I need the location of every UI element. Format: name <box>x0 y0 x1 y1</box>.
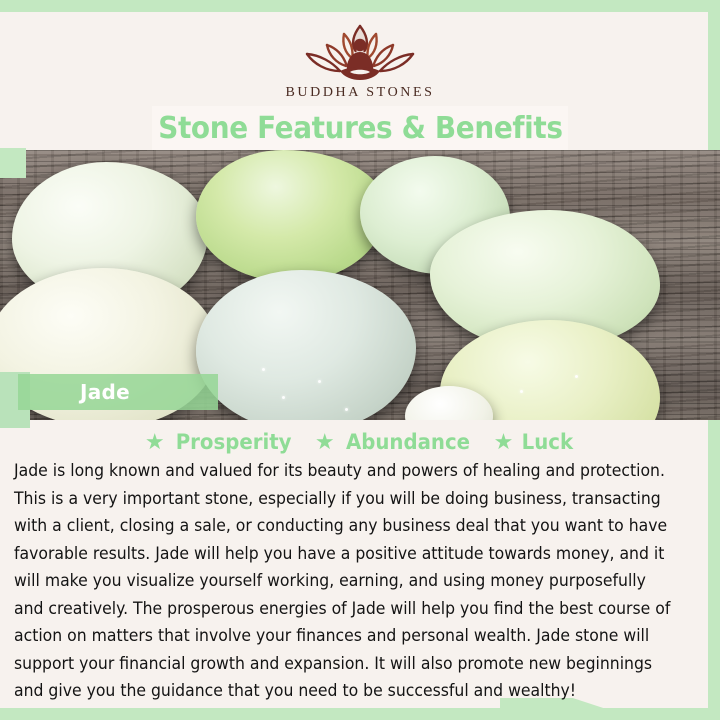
star-icon: ★ <box>494 431 514 453</box>
frame-notch <box>0 148 26 178</box>
stone-info-poster: BUDDHA STONES Stone Features & Benefits … <box>0 0 720 720</box>
sparkle-dot <box>282 396 285 399</box>
brand-name: BUDDHA STONES <box>285 85 434 101</box>
benefit-label: Abundance <box>346 430 470 454</box>
sparkle-dot <box>318 380 321 383</box>
brand-header: BUDDHA STONES <box>0 12 720 110</box>
benefits-row: ★ Prosperity ★ Abundance ★ Luck <box>0 430 720 454</box>
stone-name-banner: Jade <box>18 374 218 410</box>
jade-stone <box>196 270 416 420</box>
benefit-item-luck: ★ Luck <box>494 430 575 454</box>
star-icon: ★ <box>145 431 165 453</box>
sparkle-dot <box>520 390 523 393</box>
sparkle-dot <box>262 368 265 371</box>
stone-name-label: Jade <box>80 380 130 404</box>
page-title: Stone Features & Benefits <box>158 111 562 146</box>
benefit-item-prosperity: ★ Prosperity <box>145 430 295 454</box>
benefit-item-abundance: ★ Abundance <box>315 430 474 454</box>
star-icon: ★ <box>315 431 335 453</box>
brand-logo: BUDDHA STONES <box>285 21 434 101</box>
benefit-label: Prosperity <box>175 430 291 454</box>
sparkle-dot <box>575 375 578 378</box>
benefit-label: Luck <box>522 430 573 454</box>
sparkle-dot <box>345 408 348 411</box>
lotus-meditation-icon <box>296 21 424 83</box>
title-banner: Stone Features & Benefits <box>152 106 568 150</box>
stone-description: Jade is long known and valued for its be… <box>14 457 677 705</box>
